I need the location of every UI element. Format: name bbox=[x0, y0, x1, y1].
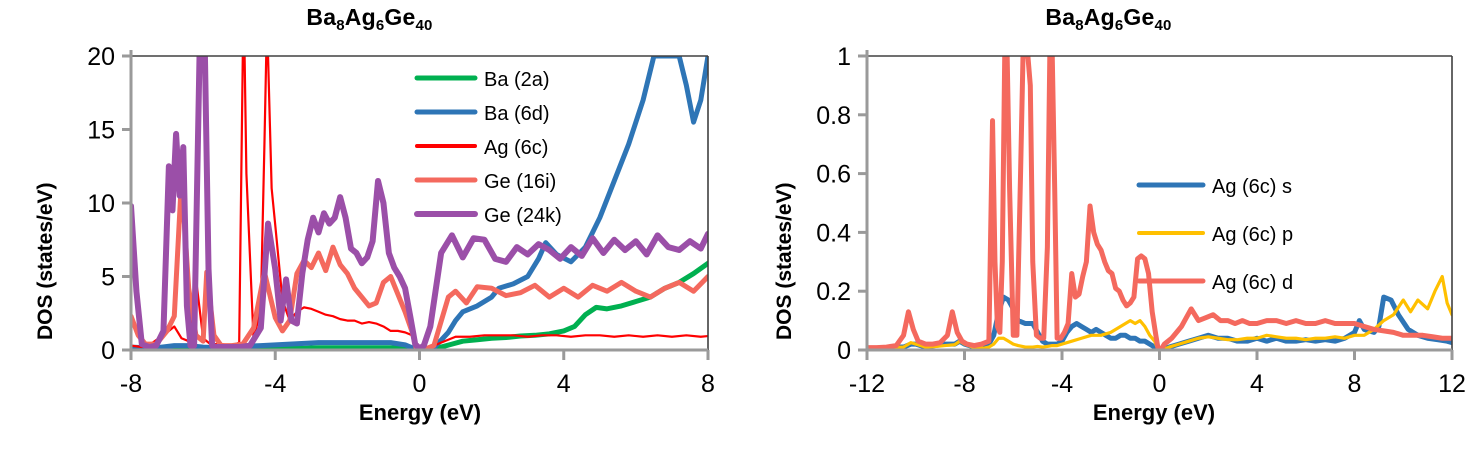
y-tick-label: 0.4 bbox=[816, 219, 851, 247]
x-tick-label: 0 bbox=[1153, 370, 1167, 398]
y-tick-label: 10 bbox=[87, 190, 115, 218]
y-tick-label: 1 bbox=[837, 43, 851, 71]
y-tick-label: 0.6 bbox=[816, 161, 851, 189]
series-line-ge-16i bbox=[131, 179, 708, 350]
legend: Ba (2a)Ba (6d)Ag (6c)Ge (16i)Ge (24k) bbox=[417, 69, 562, 227]
x-axis-ticks: -8-4048 bbox=[120, 350, 715, 398]
x-tick-label: -8 bbox=[953, 370, 975, 398]
y-axis-ticks: 05101520 bbox=[87, 43, 131, 365]
y-tick-label: 0.2 bbox=[816, 278, 851, 306]
x-tick-label: -12 bbox=[849, 370, 885, 398]
x-tick-label: -8 bbox=[120, 370, 142, 398]
dos-figure: Ba8Ag6Ge40 DOS (states/eV) Energy (eV) 0… bbox=[0, 0, 1478, 455]
series-group bbox=[867, 56, 1452, 350]
legend-label: Ba (6d) bbox=[484, 103, 550, 125]
series-line-ag-6c-d bbox=[867, 56, 1452, 350]
y-tick-label: 15 bbox=[87, 117, 115, 145]
legend-label: Ag (6c) p bbox=[1212, 224, 1293, 246]
y-tick-label: 0 bbox=[837, 337, 851, 365]
plot-area-left: 05101520-8-4048Ba (2a)Ba (6d)Ag (6c)Ge (… bbox=[0, 0, 739, 455]
legend-label: Ag (6c) bbox=[484, 137, 548, 159]
legend-label: Ba (2a) bbox=[484, 69, 550, 91]
x-tick-label: -4 bbox=[264, 370, 286, 398]
y-tick-label: 0.8 bbox=[816, 102, 851, 130]
legend-label: Ge (16i) bbox=[484, 171, 556, 193]
panel-left: Ba8Ag6Ge40 DOS (states/eV) Energy (eV) 0… bbox=[0, 0, 739, 455]
x-tick-label: 8 bbox=[1348, 370, 1362, 398]
y-tick-label: 0 bbox=[101, 337, 115, 365]
legend-label: Ag (6c) d bbox=[1212, 272, 1293, 294]
y-axis-ticks: 00.20.40.60.81 bbox=[816, 43, 867, 365]
x-axis-ticks: -12-8-404812 bbox=[849, 350, 1466, 398]
legend-label: Ag (6c) s bbox=[1212, 176, 1292, 198]
y-tick-label: 20 bbox=[87, 43, 115, 71]
x-tick-label: 8 bbox=[701, 370, 715, 398]
y-tick-label: 5 bbox=[101, 264, 115, 292]
x-tick-label: 4 bbox=[557, 370, 571, 398]
axis-frame bbox=[861, 50, 1452, 356]
x-tick-label: 12 bbox=[1438, 370, 1466, 398]
legend-label: Ge (24k) bbox=[484, 205, 562, 227]
legend: Ag (6c) sAg (6c) pAg (6c) d bbox=[1139, 176, 1293, 294]
series-group bbox=[131, 56, 708, 350]
x-tick-label: -4 bbox=[1051, 370, 1073, 398]
x-tick-label: 4 bbox=[1250, 370, 1264, 398]
plot-area-right: 00.20.40.60.81-12-8-404812Ag (6c) sAg (6… bbox=[739, 0, 1478, 455]
panel-right: Ba8Ag6Ge40 DOS (states/eV) Energy (eV) 0… bbox=[739, 0, 1478, 455]
x-tick-label: 0 bbox=[413, 370, 427, 398]
